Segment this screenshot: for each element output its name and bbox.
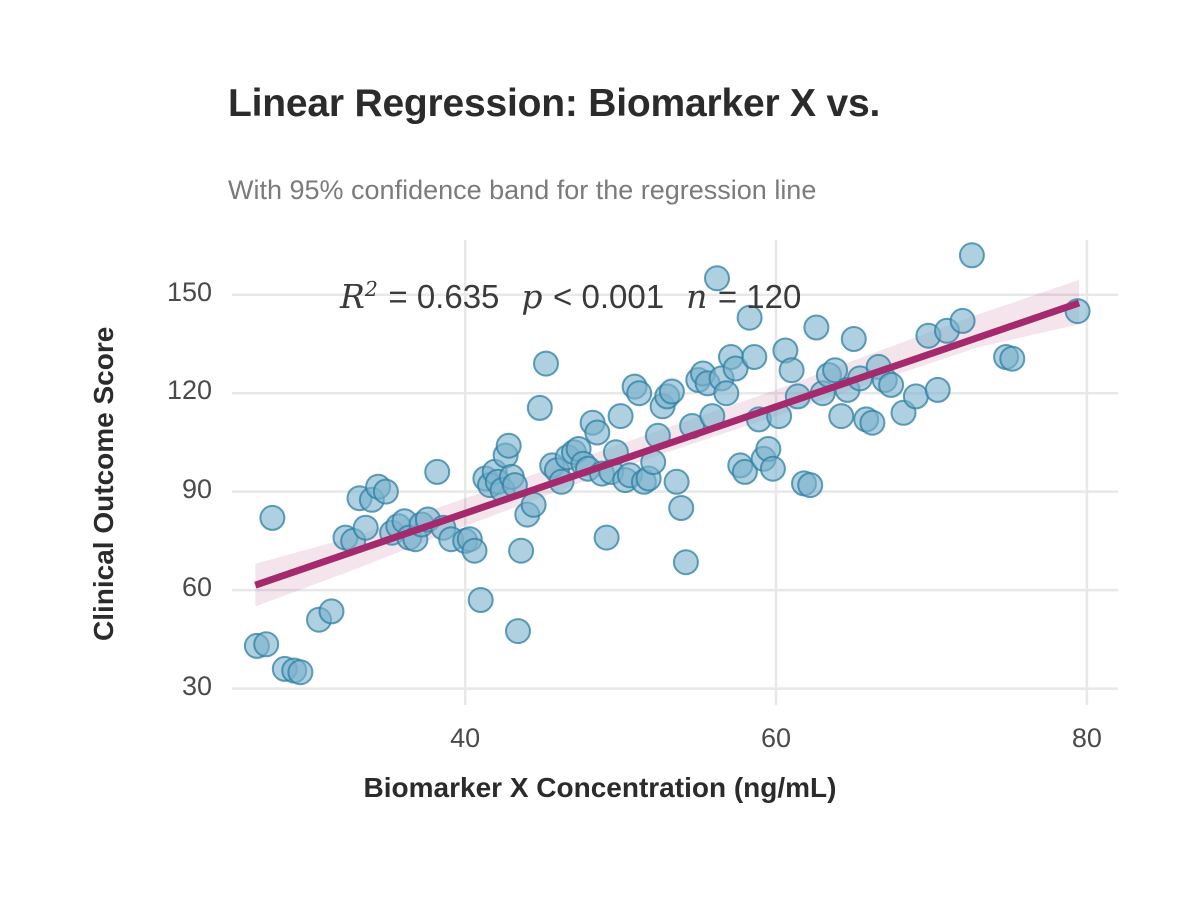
- scatter-point: [463, 539, 487, 563]
- scatter-point: [534, 352, 558, 376]
- scatter-point: [926, 378, 950, 402]
- y-tick-label: 30: [100, 671, 212, 702]
- scatter-point: [354, 516, 378, 540]
- scatter-point: [509, 539, 533, 563]
- scatter-point: [528, 396, 552, 420]
- scatter-point: [660, 380, 684, 404]
- scatter-point: [842, 327, 866, 351]
- chart-figure: Linear Regression: Biomarker X vs. With …: [0, 0, 1200, 900]
- regression-line: [255, 303, 1079, 585]
- p-value-value: < 0.001: [553, 278, 664, 315]
- scatter-point: [609, 404, 633, 428]
- scatter-point: [260, 506, 284, 530]
- p-value-symbol: p: [521, 277, 542, 316]
- scatter-point: [804, 316, 828, 340]
- n-value: = 120: [718, 278, 802, 315]
- scatter-point: [674, 550, 698, 574]
- scatter-point: [904, 384, 928, 408]
- r-squared-symbol: R: [340, 277, 365, 316]
- r-squared-exponent: 2: [365, 277, 378, 301]
- scatter-point: [665, 470, 689, 494]
- scatter-point: [425, 460, 449, 484]
- scatter-point: [669, 496, 693, 520]
- x-axis-label: Biomarker X Concentration (ng/mL): [0, 772, 1200, 804]
- scatter-point: [469, 588, 493, 612]
- scatter-point: [960, 243, 984, 267]
- r-squared-value: = 0.635: [388, 278, 499, 315]
- scatter-point: [780, 358, 804, 382]
- scatter-point: [254, 632, 278, 656]
- stats-annotation: R2 = 0.635p < 0.001n = 120: [340, 277, 801, 316]
- scatter-point: [320, 599, 344, 623]
- y-tick-label: 120: [100, 375, 212, 406]
- x-tick-label: 80: [1037, 723, 1137, 754]
- scatter-point: [879, 373, 903, 397]
- scatter-point: [595, 526, 619, 550]
- scatter-point: [798, 473, 822, 497]
- plot-area: [0, 0, 1200, 900]
- x-tick-label: 40: [415, 723, 515, 754]
- scatter-point: [829, 404, 853, 428]
- scatter-point: [288, 660, 312, 684]
- scatter-point: [497, 434, 521, 458]
- scatter-point: [860, 411, 884, 435]
- scatter-point: [1000, 347, 1024, 371]
- y-tick-label: 60: [100, 572, 212, 603]
- y-tick-label: 90: [100, 474, 212, 505]
- x-tick-label: 60: [726, 723, 826, 754]
- scatter-point: [374, 480, 398, 504]
- scatter-point: [951, 309, 975, 333]
- scatter-point: [627, 381, 651, 405]
- scatter-point: [506, 619, 530, 643]
- scatter-point: [742, 345, 766, 369]
- scatter-point: [761, 457, 785, 481]
- y-tick-label: 150: [100, 277, 212, 308]
- scatter-point: [585, 421, 609, 445]
- n-symbol: n: [686, 277, 707, 316]
- scatter-point: [714, 381, 738, 405]
